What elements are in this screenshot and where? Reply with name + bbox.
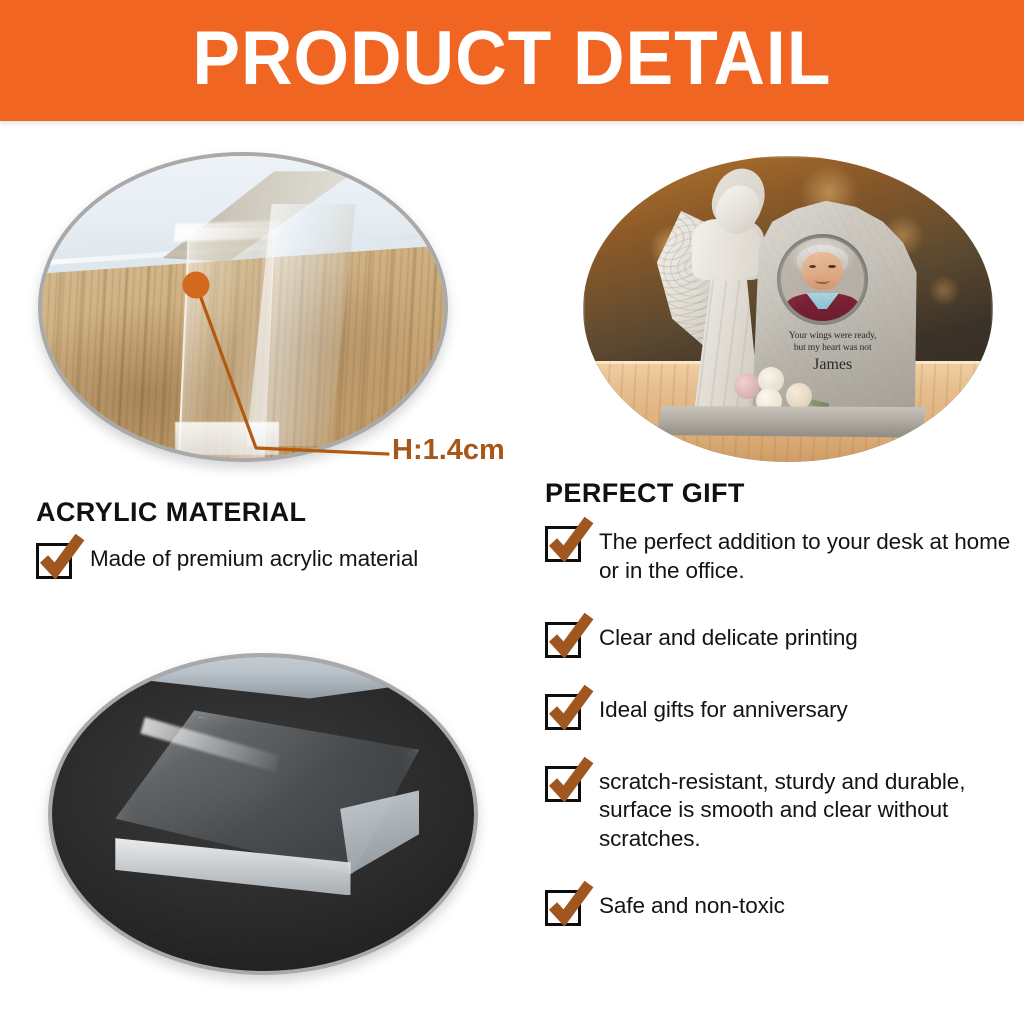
feature-text: Safe and non-toxic [599,888,785,921]
feature-text: Clear and delicate printing [599,620,858,653]
portrait-face [802,252,843,290]
checkbox-checked-icon[interactable] [545,526,581,562]
slate-back-edge [48,653,478,701]
acrylic-edge-scene [42,156,444,458]
section-heading-perfect-gift: PERFECT GIFT [545,478,745,509]
slate-surface [52,657,474,971]
portrait-eye-right [828,265,835,268]
checkbox-checked-icon[interactable] [545,766,581,802]
portrait-photo [781,238,864,321]
portrait-eye-left [809,265,816,268]
feature-list-acrylic-material: Made of premium acrylic material [36,541,526,611]
feature-text: The perfect addition to your desk at hom… [599,524,1015,586]
portrait-collar [806,293,839,310]
portrait-hair [797,245,848,275]
feature-text: Ideal gifts for anniversary [599,692,848,725]
checkbox-checked-icon[interactable] [36,543,72,579]
list-item: Safe and non-toxic [545,888,1015,926]
checkbox-checked-icon[interactable] [545,622,581,658]
list-item: Made of premium acrylic material [36,541,526,579]
memorial-product-photo: Your wings were ready, but my heart was … [583,156,993,462]
acrylic-block [115,710,419,920]
portrait-sweater [786,293,859,321]
callout-label: H:1.4cm [392,434,505,467]
statue-stone-base [657,406,928,438]
checkbox-checked-icon[interactable] [545,890,581,926]
rose-bloom [786,383,812,409]
page-title: PRODUCT DETAIL [193,21,832,97]
list-item: scratch-resistant, sturdy and durable, s… [545,764,1015,854]
feature-text: Made of premium acrylic material [90,541,418,574]
feature-text: scratch-resistant, sturdy and durable, s… [599,764,1015,854]
angel-memorial-statue: Your wings were ready, but my heart was … [657,174,928,437]
acrylic-edge-photo [38,152,448,462]
epitaph-name: James [762,355,903,375]
list-item: Ideal gifts for anniversary [545,692,1015,730]
photo-medallion [777,234,868,325]
portrait-smile [815,277,830,284]
feature-list-perfect-gift: The perfect addition to your desk at hom… [545,524,1015,960]
list-item: The perfect addition to your desk at hom… [545,524,1015,586]
list-item: Clear and delicate printing [545,620,1015,658]
acrylic-slab-foot [175,422,280,455]
header-banner: PRODUCT DETAIL [0,0,1024,121]
epitaph-text: Your wings were ready, but my heart was … [762,331,903,375]
checkbox-checked-icon[interactable] [545,694,581,730]
epitaph-line-1: Your wings were ready, [762,331,903,343]
epitaph-line-2: but my heart was not [762,343,903,355]
acrylic-block-photo [48,653,478,975]
section-heading-acrylic-material: ACRYLIC MATERIAL [36,497,306,528]
